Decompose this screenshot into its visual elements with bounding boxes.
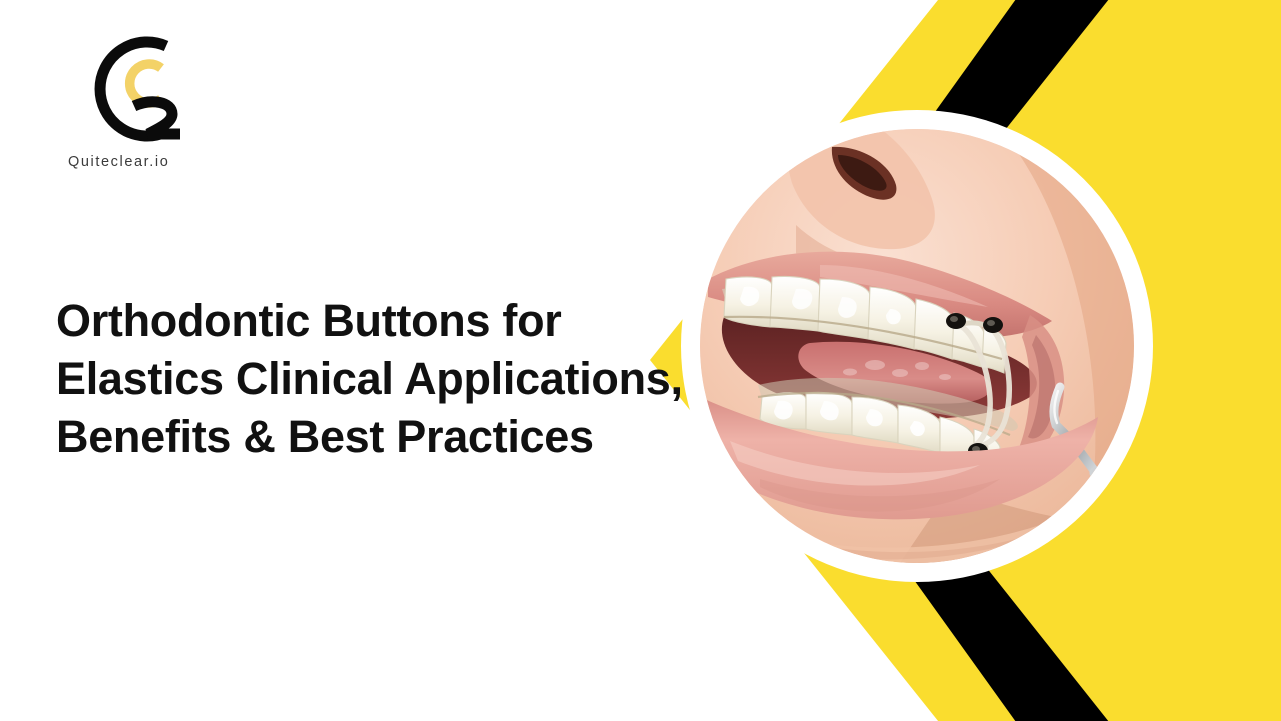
- page-title-line-1: Orthodontic Buttons for: [56, 292, 696, 350]
- page-title-line-2: Elastics Clinical Applications,: [56, 350, 696, 408]
- brand-logo[interactable]: Quiteclear.io: [62, 28, 212, 170]
- banner-canvas: Quiteclear.io Orthodontic Buttons for El…: [0, 0, 1281, 721]
- photo-image: [700, 129, 1134, 563]
- page-title: Orthodontic Buttons for Elastics Clinica…: [56, 292, 696, 466]
- photo-circle: [689, 118, 1145, 574]
- brand-wordmark: Quiteclear.io: [68, 154, 212, 170]
- page-title-line-3: Benefits & Best Practices: [56, 408, 696, 466]
- quiteclear-mark-icon: [62, 28, 186, 152]
